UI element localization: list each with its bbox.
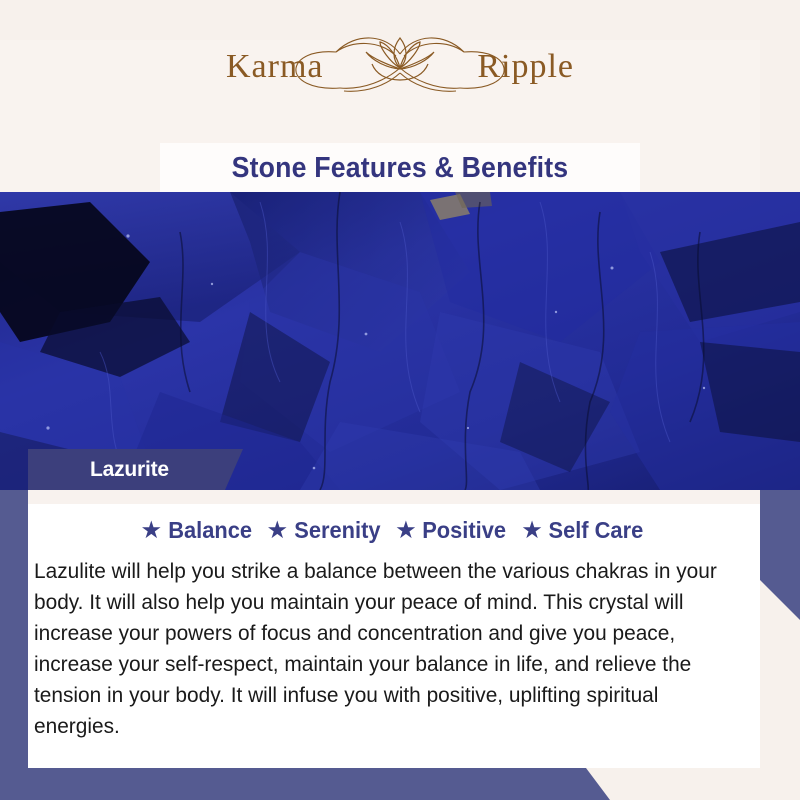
stone-description: Lazulite will help you strike a balance … [34, 556, 725, 742]
feature-label: Positive [423, 517, 507, 544]
brand-name-right: Ripple [477, 48, 574, 86]
star-icon: ★ [523, 520, 542, 541]
feature-list: ★ Balance ★ Serenity ★ Positive ★ Self C… [28, 517, 760, 544]
content-card: ★ Balance ★ Serenity ★ Positive ★ Self C… [28, 490, 760, 768]
stone-name-label: Lazurite [90, 458, 169, 482]
feature-label: Self Care [549, 517, 644, 544]
brand-name-left: Karma [226, 48, 324, 86]
stone-photo-graphic [0, 192, 800, 490]
feature-item-serenity: ★ Serenity [268, 517, 383, 544]
stone-name-tab: Lazurite [28, 449, 243, 490]
star-icon: ★ [268, 520, 287, 541]
header-section: Karma Ripple Stone Features & Benefits [0, 0, 800, 192]
feature-item-positive: ★ Positive [397, 517, 509, 544]
card-top-tint [28, 490, 760, 504]
stone-photo [0, 192, 800, 490]
feature-label: Balance [168, 517, 252, 544]
feature-item-balance: ★ Balance [142, 517, 254, 544]
title-banner: Stone Features & Benefits [160, 143, 640, 193]
feature-label: Serenity [294, 517, 380, 544]
left-accent-strip [0, 470, 28, 800]
brand-logo: Karma Ripple [0, 28, 800, 106]
feature-item-self-care: ★ Self Care [523, 517, 647, 544]
star-icon: ★ [397, 520, 416, 541]
star-icon: ★ [142, 520, 161, 541]
page-title: Stone Features & Benefits [232, 152, 569, 185]
infographic-page: Karma Ripple Stone Features & Benefits [0, 0, 800, 800]
